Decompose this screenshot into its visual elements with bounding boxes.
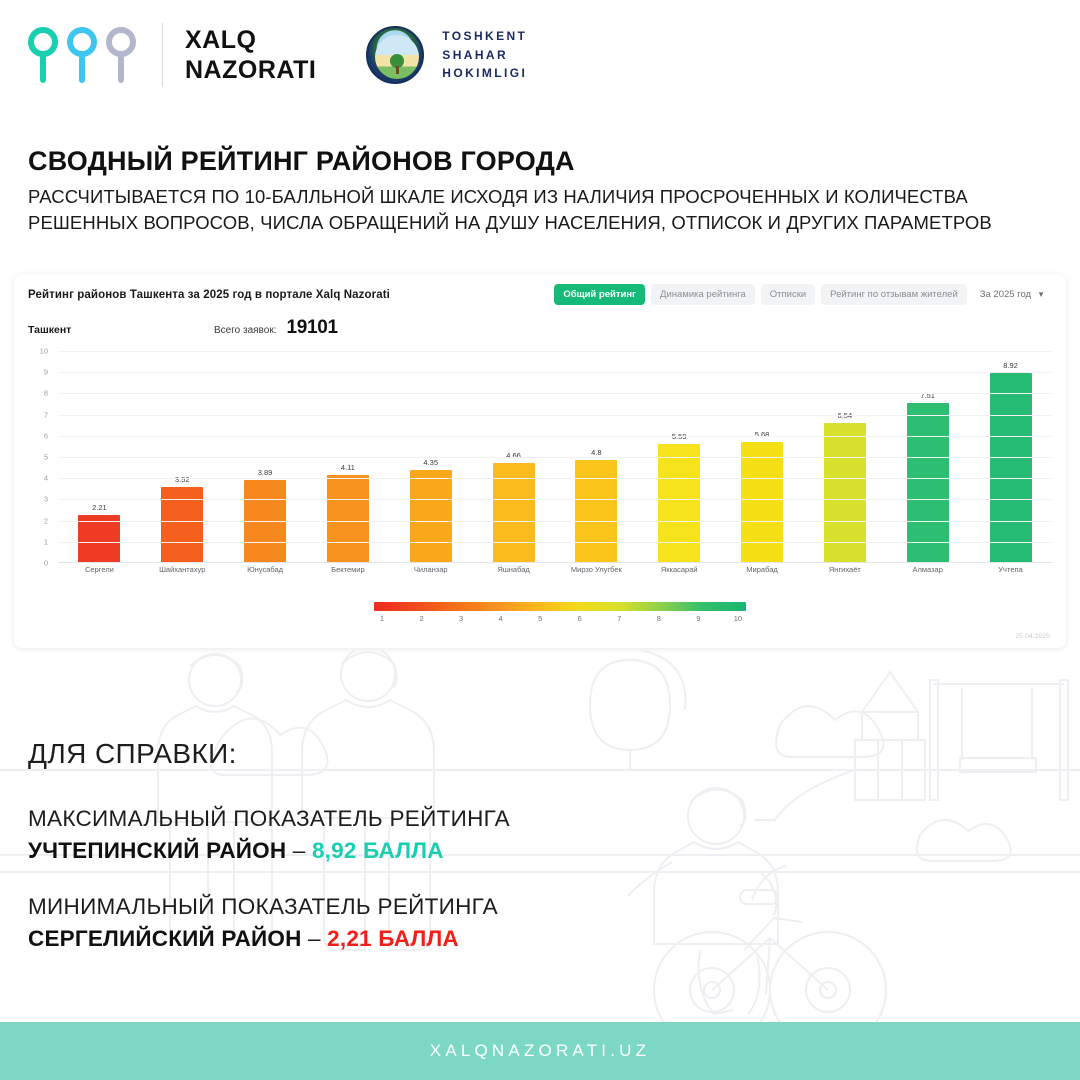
y-tick-3: 3 — [44, 495, 48, 504]
chevron-down-icon: ▼ — [1037, 290, 1045, 299]
total-requests-label: Всего заявок: — [214, 325, 276, 336]
bar-value-label: 5.68 — [755, 430, 770, 439]
xalq-nazorati-logo: XALQ NAZORATI — [28, 23, 316, 87]
bar-value-label: 4.66 — [506, 451, 521, 460]
y-tick-5: 5 — [44, 453, 48, 462]
chart-card-header: Рейтинг районов Ташкента за 2025 год в п… — [14, 274, 1066, 305]
bar[interactable] — [990, 373, 1032, 562]
tab-otpiski[interactable]: Отписки — [761, 284, 815, 305]
reference-min-district: СЕРГЕЛИЙСКИЙ РАЙОН — [28, 926, 302, 951]
partner-name: TOSHKENT SHAHAR HOKIMLIGI — [442, 27, 527, 83]
page-subtitle: РАССЧИТЫВАЕТСЯ ПО 10-БАЛЛЬНОЙ ШКАЛЕ ИСХО… — [28, 184, 1018, 237]
gridline — [58, 521, 1052, 522]
page-title: СВОДНЫЙ РЕЙТИНГ РАЙОНОВ ГОРОДА — [28, 146, 1038, 177]
y-tick-8: 8 — [44, 389, 48, 398]
chart-subheader: Ташкент Всего заявок: 19101 — [14, 305, 1066, 339]
brand-name-line1: XALQ — [185, 25, 316, 55]
reference-max-label: МАКСИМАЛЬНЫЙ ПОКАЗАТЕЛЬ РЕЙТИНГА — [28, 806, 728, 832]
x-axis-label: Бектемир — [318, 565, 378, 574]
color-scale-tick: 5 — [533, 614, 547, 623]
color-scale-tick: 6 — [573, 614, 587, 623]
x-axis-label: Шайхантахур — [152, 565, 212, 574]
x-axis-label: Алмазар — [898, 565, 958, 574]
color-scale-gradient — [374, 602, 746, 611]
color-scale-tick: 10 — [731, 614, 745, 623]
reference-max-row: УЧТЕПИНСКИЙ РАЙОН – 8,92 БАЛЛА — [28, 838, 728, 864]
tashkent-hokimligi-logo: TOSHKENT SHAHAR HOKIMLIGI — [366, 26, 527, 84]
reference-max-dash: – — [293, 838, 306, 863]
color-scale-tick: 1 — [375, 614, 389, 623]
color-scale-ticks: 12345678910 — [374, 614, 746, 623]
reference-min-label: МИНИМАЛЬНЫЙ ПОКАЗАТЕЛЬ РЕЙТИНГА — [28, 894, 728, 920]
bar[interactable] — [907, 403, 949, 562]
color-scale-tick: 4 — [494, 614, 508, 623]
y-tick-4: 4 — [44, 474, 48, 483]
x-axis-label: Яшнабад — [484, 565, 544, 574]
y-tick-10: 10 — [40, 347, 48, 356]
page-subtitle-line2: РЕШЕННЫХ ВОПРОСОВ, ЧИСЛА ОБРАЩЕНИЙ НА ДУ… — [28, 210, 1018, 236]
y-tick-0: 0 — [44, 559, 48, 568]
bar-chart-plot: 012345678910 2.213.523.894.114.354.664.8… — [28, 351, 1052, 583]
tab-reyting-po-otzyvam[interactable]: Рейтинг по отзывам жителей — [821, 284, 967, 305]
bar-value-label: 4.8 — [591, 448, 601, 457]
y-tick-2: 2 — [44, 516, 48, 525]
reference-min-value: 2,21 БАЛЛА — [327, 926, 459, 951]
page-subtitle-line1: РАССЧИТЫВАЕТСЯ ПО 10-БАЛЛЬНОЙ ШКАЛЕ ИСХО… — [28, 184, 1018, 210]
x-axis-labels: СергелиШайхантахурЮнусабадБектемирЧиланз… — [58, 565, 1052, 574]
tashkent-city-seal-icon — [366, 26, 424, 84]
header-logo-bar: XALQ NAZORATI TOSHKENT SHAHAR HOKIMLIGI — [0, 0, 1080, 110]
partner-line2: SHAHAR — [442, 46, 527, 65]
reference-min-dash: – — [308, 926, 321, 951]
bar-value-label: 4.35 — [423, 458, 438, 467]
three-magnifiers-icon — [28, 27, 136, 83]
reference-max-item: МАКСИМАЛЬНЫЙ ПОКАЗАТЕЛЬ РЕЙТИНГА УЧТЕПИН… — [28, 806, 728, 864]
bar[interactable] — [741, 442, 783, 562]
x-axis-label: Янгихаёт — [815, 565, 875, 574]
bar-value-label: 3.89 — [258, 468, 273, 477]
reference-heading: ДЛЯ СПРАВКИ: — [28, 738, 728, 770]
x-axis-label: Чиланзар — [401, 565, 461, 574]
color-scale-legend: 12345678910 — [374, 602, 746, 623]
reference-min-row: СЕРГЕЛИЙСКИЙ РАЙОН – 2,21 БАЛЛА — [28, 926, 728, 952]
total-requests: Всего заявок: 19101 — [214, 317, 338, 339]
gridline — [58, 436, 1052, 437]
x-axis-label: Мирабад — [732, 565, 792, 574]
chart-timestamp: 25.04.2025 — [1015, 633, 1050, 640]
brand-name-line2: NAZORATI — [185, 55, 316, 85]
partner-line1: TOSHKENT — [442, 27, 527, 46]
gridline — [58, 415, 1052, 416]
period-select[interactable]: За 2025 год ▼ — [973, 284, 1052, 305]
chart-grid: 2.213.523.894.114.354.664.85.595.686.547… — [58, 351, 1052, 563]
y-tick-1: 1 — [44, 537, 48, 546]
y-tick-7: 7 — [44, 410, 48, 419]
gridline — [58, 499, 1052, 500]
reference-max-value: 8,92 БАЛЛА — [312, 838, 444, 863]
chart-card: Рейтинг районов Ташкента за 2025 год в п… — [14, 274, 1066, 648]
bar[interactable] — [410, 470, 452, 562]
bar[interactable] — [78, 515, 120, 562]
x-axis-label: Яккасарай — [649, 565, 709, 574]
bar[interactable] — [658, 444, 700, 563]
x-axis-label: Юнусабад — [235, 565, 295, 574]
footer-bar: XALQNAZORATI.UZ — [0, 1022, 1080, 1080]
period-select-label: За 2025 год — [980, 289, 1031, 300]
color-scale-tick: 3 — [454, 614, 468, 623]
color-scale-tick: 8 — [652, 614, 666, 623]
x-axis-label: Сергели — [69, 565, 129, 574]
color-scale-tick: 9 — [691, 614, 705, 623]
title-block: СВОДНЫЙ РЕЙТИНГ РАЙОНОВ ГОРОДА РАССЧИТЫВ… — [28, 146, 1038, 237]
x-axis-label: Учтепа — [981, 565, 1041, 574]
gridline — [58, 351, 1052, 352]
x-axis-label: Мирзо Улугбек — [566, 565, 626, 574]
color-scale-tick: 2 — [415, 614, 429, 623]
y-tick-9: 9 — [44, 368, 48, 377]
gridline — [58, 542, 1052, 543]
tab-dinamika-reytinga[interactable]: Динамика рейтинга — [651, 284, 755, 305]
reference-min-item: МИНИМАЛЬНЫЙ ПОКАЗАТЕЛЬ РЕЙТИНГА СЕРГЕЛИЙ… — [28, 894, 728, 952]
city-label: Ташкент — [28, 324, 214, 336]
brand-name: XALQ NAZORATI — [185, 25, 316, 85]
chart-tabs: Общий рейтинг Динамика рейтинга Отписки … — [554, 284, 1052, 305]
bar[interactable] — [327, 475, 369, 562]
bar-value-label: 4.11 — [341, 463, 355, 472]
total-requests-value: 19101 — [286, 317, 337, 339]
bar[interactable] — [575, 460, 617, 562]
gridline — [58, 393, 1052, 394]
partner-line3: HOKIMLIGI — [442, 64, 527, 83]
bar-value-label: 2.21 — [92, 503, 107, 512]
gridline — [58, 457, 1052, 458]
bar-value-label: 7.51 — [920, 391, 935, 400]
tab-obshiy-reyting[interactable]: Общий рейтинг — [554, 284, 645, 305]
footer-website: XALQNAZORATI.UZ — [430, 1041, 650, 1061]
bar-value-label: 6.54 — [838, 411, 853, 420]
y-tick-6: 6 — [44, 431, 48, 440]
y-axis: 012345678910 — [28, 351, 54, 563]
gridline — [58, 478, 1052, 479]
color-scale-tick: 7 — [612, 614, 626, 623]
logo-divider — [162, 23, 163, 87]
reference-max-district: УЧТЕПИНСКИЙ РАЙОН — [28, 838, 286, 863]
reference-block: ДЛЯ СПРАВКИ: МАКСИМАЛЬНЫЙ ПОКАЗАТЕЛЬ РЕЙ… — [28, 738, 728, 982]
bar-value-label: 3.52 — [175, 475, 190, 484]
gridline — [58, 372, 1052, 373]
bar-value-label: 8.92 — [1003, 361, 1018, 370]
chart-card-title: Рейтинг районов Ташкента за 2025 год в п… — [28, 289, 390, 301]
